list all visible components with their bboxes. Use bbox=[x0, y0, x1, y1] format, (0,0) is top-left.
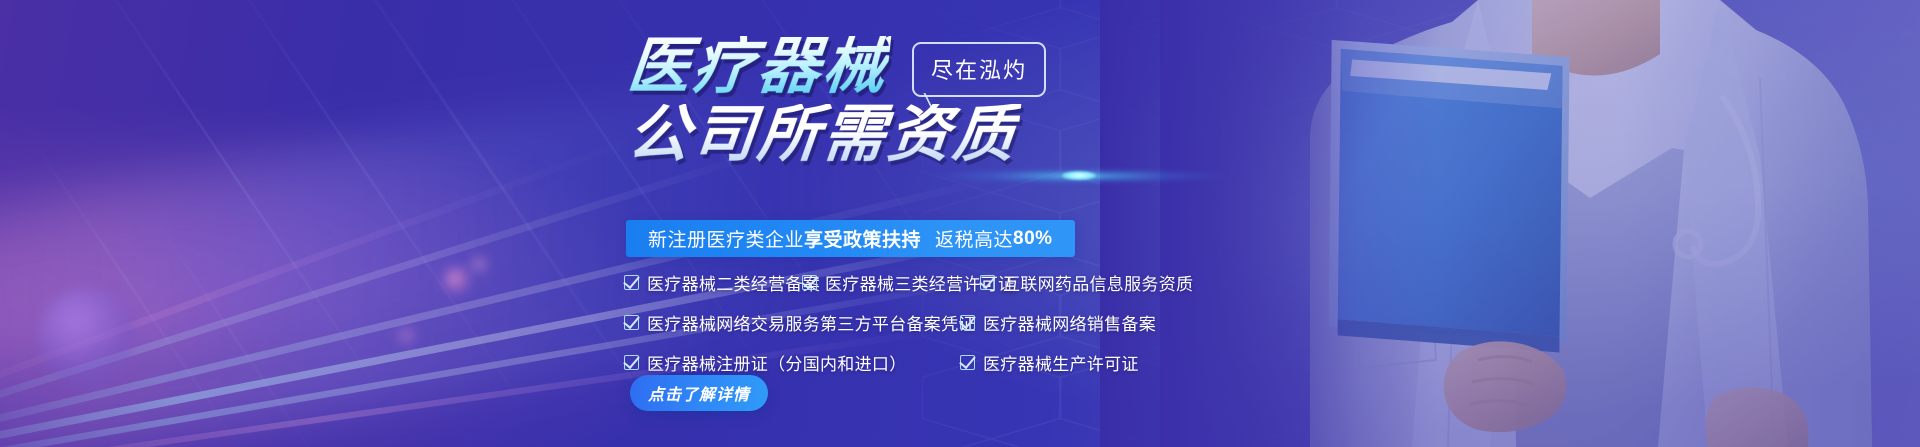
checkbox-checked-icon bbox=[980, 275, 995, 290]
list-item: 医疗器械网络交易服务第三方平台备案凭证 bbox=[624, 310, 960, 335]
checklist-row: 医疗器械网络交易服务第三方平台备案凭证 医疗器械网络销售备案 bbox=[624, 308, 1264, 337]
checklist-label: 医疗器械生产许可证 bbox=[983, 350, 1139, 375]
banner-content: 医疗器械 尽在泓灼 公司所需资质 新注册医疗类企业 享受政策扶持 返税高达 80… bbox=[0, 0, 1920, 447]
checkbox-checked-icon bbox=[802, 275, 817, 290]
list-item: 互联网药品信息服务资质 bbox=[980, 270, 1193, 295]
tagline-part-3: 返税高达 bbox=[935, 225, 1013, 252]
slogan-bubble-badge: 尽在泓灼 bbox=[912, 42, 1046, 97]
headline-secondary: 公司所需资质 bbox=[625, 104, 1022, 166]
checklist-label: 医疗器械二类经营备案 bbox=[647, 270, 820, 295]
checkbox-checked-icon bbox=[960, 355, 975, 370]
list-item: 医疗器械注册证（分国内和进口） bbox=[624, 350, 960, 375]
checklist-row: 医疗器械注册证（分国内和进口） 医疗器械生产许可证 bbox=[624, 348, 1264, 377]
checklist-label: 互联网药品信息服务资质 bbox=[1003, 270, 1193, 295]
checklist-label: 医疗器械网络销售备案 bbox=[983, 310, 1156, 335]
tagline-part-1: 新注册医疗类企业 bbox=[648, 225, 804, 252]
lens-flare-decoration bbox=[930, 168, 1230, 184]
checkbox-checked-icon bbox=[960, 315, 975, 330]
tagline-part-2: 享受政策扶持 bbox=[804, 225, 921, 252]
checkbox-checked-icon bbox=[624, 275, 639, 290]
medical-device-qualification-banner: 医疗器械 尽在泓灼 公司所需资质 新注册医疗类企业 享受政策扶持 返税高达 80… bbox=[0, 0, 1920, 447]
checklist-row: 医疗器械二类经营备案 医疗器械三类经营许可证 互联网药品信息服务资质 bbox=[624, 268, 1264, 297]
checkbox-checked-icon bbox=[624, 315, 639, 330]
promo-tagline-bar: 新注册医疗类企业 享受政策扶持 返税高达 80% bbox=[626, 220, 1075, 257]
qualification-checklist: 医疗器械二类经营备案 医疗器械三类经营许可证 互联网药品信息服务资质 医疗器械网… bbox=[624, 268, 1264, 388]
checkbox-checked-icon bbox=[624, 355, 639, 370]
list-item: 医疗器械生产许可证 bbox=[960, 350, 1139, 375]
tagline-part-4: 80% bbox=[1013, 228, 1053, 250]
list-item: 医疗器械网络销售备案 bbox=[960, 310, 1156, 335]
lens-flare-core bbox=[1062, 171, 1096, 180]
slogan-bubble-text: 尽在泓灼 bbox=[931, 58, 1027, 83]
headline-row: 医疗器械 尽在泓灼 bbox=[628, 36, 1046, 98]
checklist-label: 医疗器械网络交易服务第三方平台备案凭证 bbox=[647, 310, 976, 335]
headline-primary: 医疗器械 bbox=[625, 36, 892, 98]
checklist-label: 医疗器械注册证（分国内和进口） bbox=[647, 350, 907, 375]
list-item: 医疗器械二类经营备案 bbox=[624, 270, 802, 295]
learn-more-button[interactable]: 点击了解详情 bbox=[630, 375, 768, 411]
list-item: 医疗器械三类经营许可证 bbox=[802, 270, 980, 295]
